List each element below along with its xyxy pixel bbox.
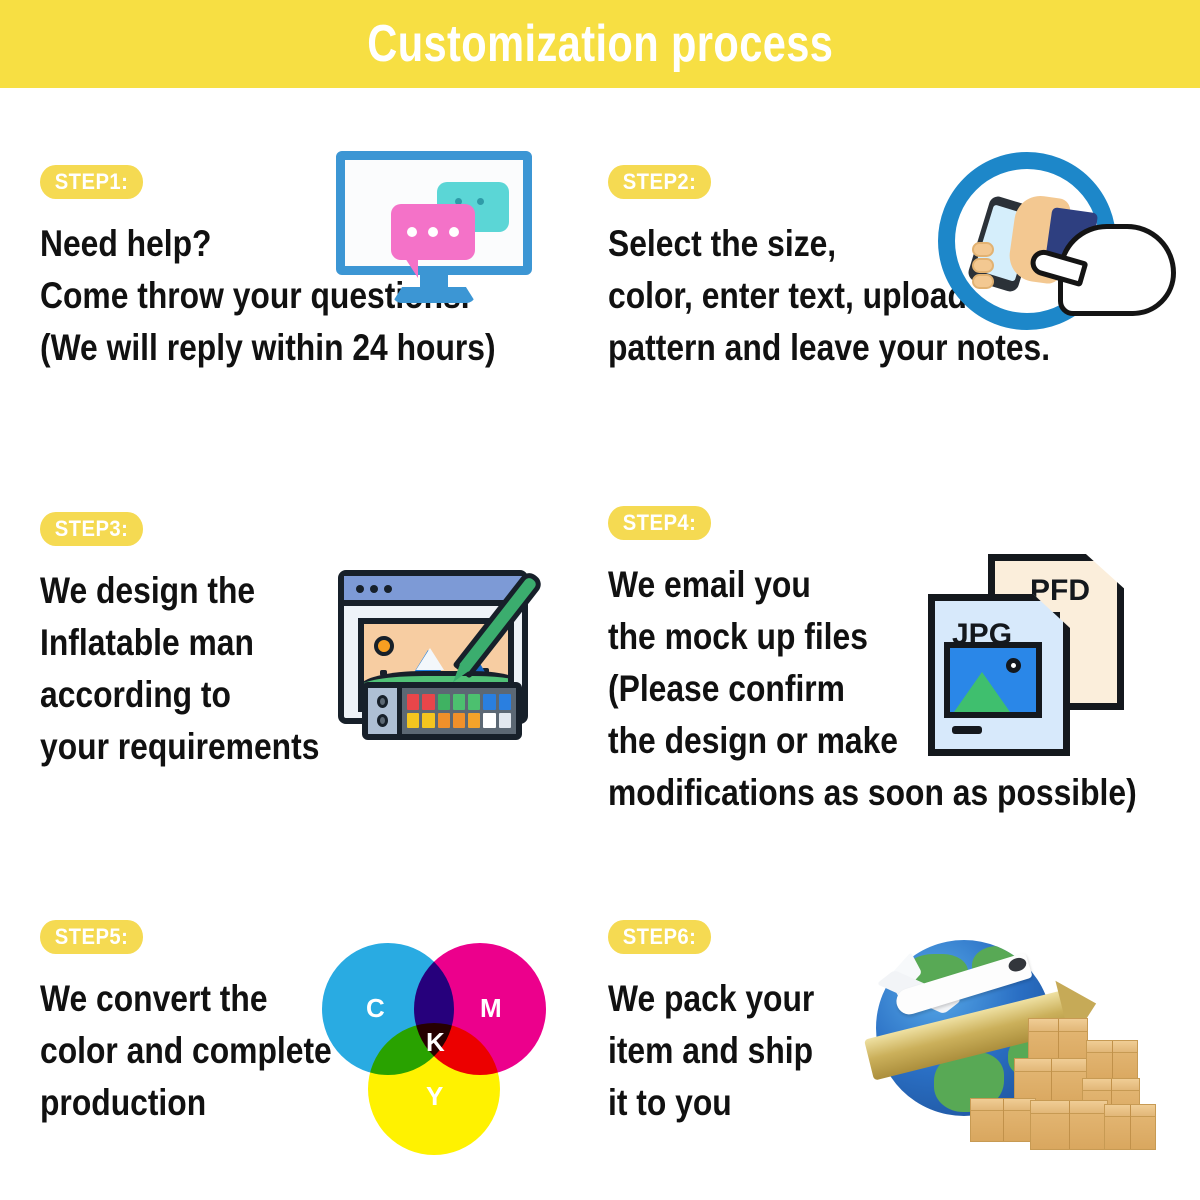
palette-swatch	[468, 713, 480, 729]
palette-swatches	[402, 688, 516, 734]
step-line: according to	[40, 669, 319, 721]
monitor-base	[392, 287, 476, 303]
step-badge-1: STEP1:	[40, 165, 143, 199]
palette-swatch	[438, 713, 450, 729]
thumb-peak	[954, 672, 1010, 712]
box-seam	[1003, 1099, 1004, 1141]
bubble-dot	[428, 227, 438, 237]
box-seam	[1130, 1105, 1131, 1149]
step-card-3: STEP3: We design the Inflatable man acco…	[40, 512, 365, 773]
step-text-6: We pack your item and ship it to you	[608, 973, 848, 1129]
plane-nose	[1007, 956, 1028, 974]
step-line: (We will reply within 24 hours)	[40, 322, 496, 374]
palette-swatch	[468, 694, 480, 710]
palette-swatch	[438, 694, 450, 710]
monitor-frame	[336, 151, 532, 275]
infographic-page: Customization process STEP1: Need help? …	[0, 0, 1200, 1200]
steps-grid: STEP1: Need help? Come throw your questi…	[0, 88, 1200, 1200]
parcel-box	[970, 1098, 1036, 1142]
step-line: modifications as soon as possible)	[608, 767, 1137, 819]
step-line: We design the	[40, 565, 319, 617]
window-dot	[384, 585, 392, 593]
step-badge-4: STEP4:	[608, 506, 711, 540]
parcel-box	[1104, 1104, 1156, 1150]
palette-swatch	[499, 713, 511, 729]
page-title: Customization process	[367, 18, 833, 70]
window-dot	[356, 585, 364, 593]
bubble-dot	[407, 227, 417, 237]
window-titlebar	[344, 576, 522, 606]
step-line: it to you	[608, 1077, 814, 1129]
mockup-files-icon: PFD JPG	[922, 550, 1142, 770]
step-line: production	[40, 1077, 332, 1129]
palette-swatch	[422, 713, 434, 729]
step-line: We pack your	[608, 973, 814, 1025]
tray-knob	[377, 714, 388, 727]
palette-swatch	[453, 713, 465, 729]
step-badge-2: STEP2:	[608, 165, 711, 199]
box-seam	[1112, 1041, 1113, 1083]
cmyk-venn-icon: C M Y K	[322, 943, 552, 1158]
step-text-3: We design the Inflatable man according t…	[40, 565, 365, 773]
palette-swatch	[407, 694, 419, 710]
palette-swatch	[499, 694, 511, 710]
sun-shape	[374, 636, 394, 656]
globe-plane-boxes-icon	[872, 928, 1172, 1158]
file-line	[952, 726, 982, 734]
venn-label-k: K	[426, 1029, 445, 1055]
finger	[972, 274, 994, 289]
design-window-pen-icon	[332, 556, 542, 756]
color-palette-tray	[362, 682, 522, 740]
finger	[972, 258, 994, 273]
bubble-dot	[477, 198, 484, 205]
palette-swatch	[483, 713, 495, 729]
palette-swatch	[453, 694, 465, 710]
finger	[972, 242, 994, 257]
palette-swatch	[483, 694, 495, 710]
venn-label-c: C	[366, 995, 385, 1021]
venn-label-m: M	[480, 995, 502, 1021]
box-seam	[1051, 1059, 1052, 1105]
bubble-dot	[449, 227, 459, 237]
step-badge-5: STEP5:	[40, 920, 143, 954]
header-banner: Customization process	[0, 0, 1200, 88]
palette-swatch	[422, 694, 434, 710]
box-seam	[1069, 1101, 1070, 1149]
step-card-6: STEP6: We pack your item and ship it to …	[608, 920, 848, 1129]
window-dot	[370, 585, 378, 593]
tray-knobs	[368, 688, 402, 734]
step-badge-3: STEP3:	[40, 512, 143, 546]
hand-phone-tap-icon	[920, 146, 1180, 336]
monitor-chat-icon	[336, 151, 536, 311]
step-line: item and ship	[608, 1025, 814, 1077]
tray-knob	[377, 695, 388, 708]
step-line: Inflatable man	[40, 617, 319, 669]
parcel-box	[1030, 1100, 1108, 1150]
step-line: your requirements	[40, 721, 319, 773]
step-line: color and complete	[40, 1025, 332, 1077]
thumb-sun	[1006, 658, 1021, 673]
venn-label-y: Y	[426, 1083, 443, 1109]
chat-bubble-front	[391, 204, 475, 260]
step-line: We convert the	[40, 973, 332, 1025]
palette-swatch	[407, 713, 419, 729]
thumbnail-jpg	[944, 642, 1042, 718]
step-badge-6: STEP6:	[608, 920, 711, 954]
snow-cap	[416, 648, 444, 670]
